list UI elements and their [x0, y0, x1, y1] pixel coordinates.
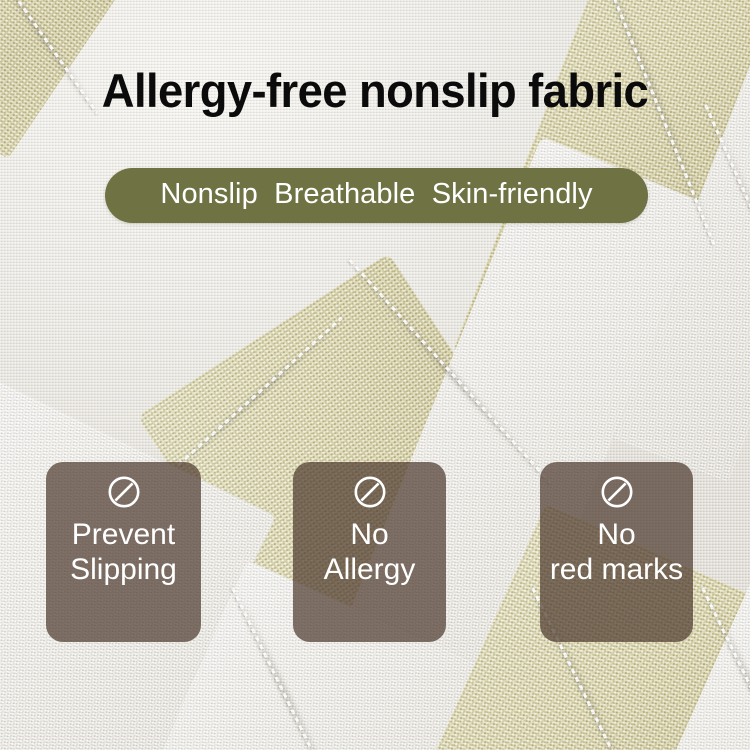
prohibition-icon: [353, 475, 387, 509]
tagline-banner: Nonslip Breathable Skin-friendly: [105, 168, 648, 223]
feature-card-no-allergy: No Allergy: [293, 462, 446, 642]
prohibition-icon: [600, 475, 634, 509]
feature-card-label: No red marks: [550, 517, 683, 587]
feature-card-label: No Allergy: [324, 517, 416, 587]
feature-card-row: Prevent Slipping No Allergy No red marks: [0, 462, 750, 642]
tagline-text: Nonslip Breathable Skin-friendly: [160, 180, 592, 209]
feature-card-no-red-marks: No red marks: [540, 462, 693, 642]
feature-card-label: Prevent Slipping: [70, 517, 177, 587]
prohibition-icon: [107, 475, 141, 509]
page-title: Allergy-free nonslip fabric: [13, 66, 737, 116]
product-feature-poster: Allergy-free nonslip fabric Nonslip Brea…: [0, 0, 750, 750]
feature-card-prevent-slipping: Prevent Slipping: [46, 462, 201, 642]
